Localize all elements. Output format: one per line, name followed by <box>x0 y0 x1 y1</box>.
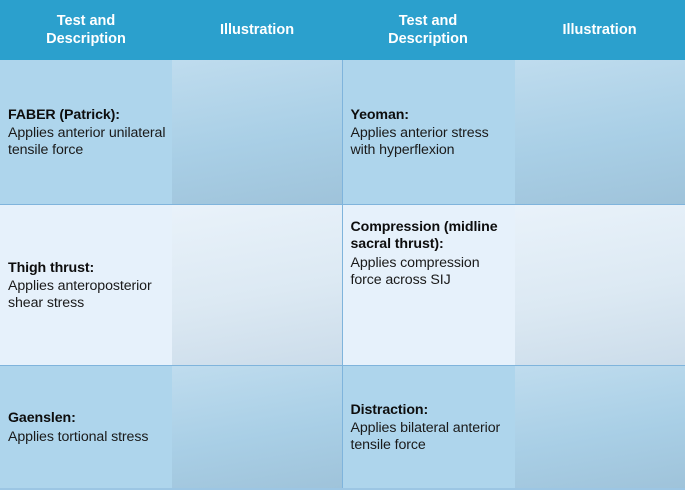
scene-background <box>515 60 685 204</box>
header-cell-test-and-description-1: Test and Description <box>0 0 172 60</box>
table-row: FABER (Patrick): Applies anterior unilat… <box>0 60 685 205</box>
illustration-faber <box>172 60 342 204</box>
description-cell-distraction: Distraction: Applies bilateral anterior … <box>343 366 515 488</box>
cell-pair-gaenslen: Gaenslen: Applies tortional stress <box>0 366 343 488</box>
test-description: Applies tortional stress <box>8 429 166 446</box>
description-cell-gaenslen: Gaenslen: Applies tortional stress <box>0 366 172 488</box>
header-label-line2: Description <box>388 31 468 47</box>
scene-background <box>515 205 685 365</box>
header-label-illustration: Illustration <box>220 21 294 39</box>
cell-pair-distraction: Distraction: Applies bilateral anterior … <box>343 366 685 488</box>
test-name: Compression (midline sacral thrust): <box>351 219 509 254</box>
header-cell-test-and-description-2: Test and Description <box>342 0 514 60</box>
test-description: Applies anterior unilateral tensile forc… <box>8 125 166 160</box>
scene-background <box>172 366 342 488</box>
test-name: FABER (Patrick): <box>8 107 166 124</box>
scene-background <box>172 205 342 365</box>
table-row: Thigh thrust: Applies anteroposterior sh… <box>0 205 685 366</box>
illustration-gaenslen <box>172 366 342 488</box>
header-label-line1: Test and <box>399 13 458 29</box>
test-name: Gaenslen: <box>8 410 166 427</box>
illustration-yeoman <box>515 60 685 204</box>
cell-pair-thigh-thrust: Thigh thrust: Applies anteroposterior sh… <box>0 205 343 365</box>
description-cell-faber: FABER (Patrick): Applies anterior unilat… <box>0 60 172 204</box>
test-description: Applies anterior stress with hyperflexio… <box>351 125 509 160</box>
test-name: Yeoman: <box>351 107 509 124</box>
illustration-thigh-thrust <box>172 205 342 365</box>
cell-pair-faber: FABER (Patrick): Applies anterior unilat… <box>0 60 343 204</box>
table-body: FABER (Patrick): Applies anterior unilat… <box>0 60 685 490</box>
sij-provocation-tests-figure: Test and Description Illustration Test a… <box>0 0 685 490</box>
scene-background <box>172 60 342 204</box>
header-label-illustration: Illustration <box>562 21 636 39</box>
description-cell-thigh-thrust: Thigh thrust: Applies anteroposterior sh… <box>0 205 172 365</box>
test-description: Applies compression force across SIJ <box>351 255 509 290</box>
scene-background <box>515 366 685 488</box>
header-label-line2: Description <box>46 31 126 47</box>
test-description: Applies anteroposterior shear stress <box>8 278 166 313</box>
cell-pair-compression: Compression (midline sacral thrust): App… <box>343 205 685 365</box>
description-cell-compression: Compression (midline sacral thrust): App… <box>343 205 515 365</box>
header-cell-illustration-2: Illustration <box>514 0 685 60</box>
header-cell-illustration-1: Illustration <box>172 0 342 60</box>
cell-pair-yeoman: Yeoman: Applies anterior stress with hyp… <box>343 60 685 204</box>
illustration-distraction <box>515 366 685 488</box>
illustration-compression <box>515 205 685 365</box>
test-name: Thigh thrust: <box>8 260 166 277</box>
test-name: Distraction: <box>351 402 509 419</box>
description-cell-yeoman: Yeoman: Applies anterior stress with hyp… <box>343 60 515 204</box>
test-description: Applies bilateral anterior tensile force <box>351 420 509 455</box>
table-row: Gaenslen: Applies tortional stress <box>0 366 685 490</box>
header-label-line1: Test and <box>57 13 116 29</box>
table-header: Test and Description Illustration Test a… <box>0 0 685 60</box>
